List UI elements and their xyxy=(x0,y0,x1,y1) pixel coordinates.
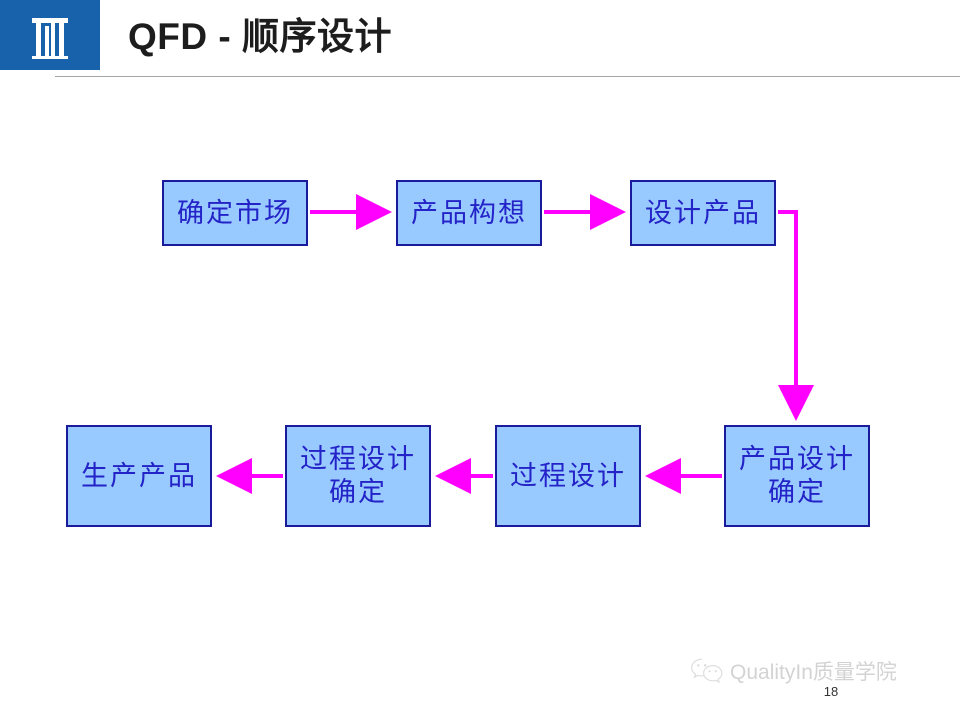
flow-node-产品设计确定[interactable]: 产品设计 确定 xyxy=(724,425,870,527)
footer-watermark: QualityIn质量学院 xyxy=(690,653,920,689)
flow-node-过程设计[interactable]: 过程设计 xyxy=(495,425,641,527)
gate-building-logo-icon xyxy=(28,10,72,60)
slide-header: QFD - 顺序设计 xyxy=(0,0,960,80)
header-divider-rule xyxy=(55,76,960,77)
flow-node-产品构想[interactable]: 产品构想 xyxy=(396,180,542,246)
flow-node-label: 设计产品 xyxy=(632,197,774,230)
logo-block xyxy=(0,0,100,70)
flow-node-label: 过程设计 xyxy=(497,460,639,493)
flow-node-label: 确定市场 xyxy=(164,197,306,230)
flow-node-label: 过程设计 确定 xyxy=(287,443,429,509)
flow-node-过程设计确定[interactable]: 过程设计 确定 xyxy=(285,425,431,527)
page-number: 18 xyxy=(816,684,846,699)
page-title: QFD - 顺序设计 xyxy=(128,8,392,70)
flow-node-设计产品[interactable]: 设计产品 xyxy=(630,180,776,246)
flow-node-生产产品[interactable]: 生产产品 xyxy=(66,425,212,527)
flow-node-label: 产品构想 xyxy=(398,197,540,230)
watermark-text: QualityIn质量学院 xyxy=(730,656,897,686)
flow-node-label: 生产产品 xyxy=(68,460,210,493)
arrow-设计产品-to-产品设计确定 xyxy=(778,212,796,417)
flowchart-arrow-layer xyxy=(0,0,960,720)
flow-node-label: 产品设计 确定 xyxy=(726,443,868,509)
flow-node-确定市场[interactable]: 确定市场 xyxy=(162,180,308,246)
wechat-icon xyxy=(690,657,724,685)
